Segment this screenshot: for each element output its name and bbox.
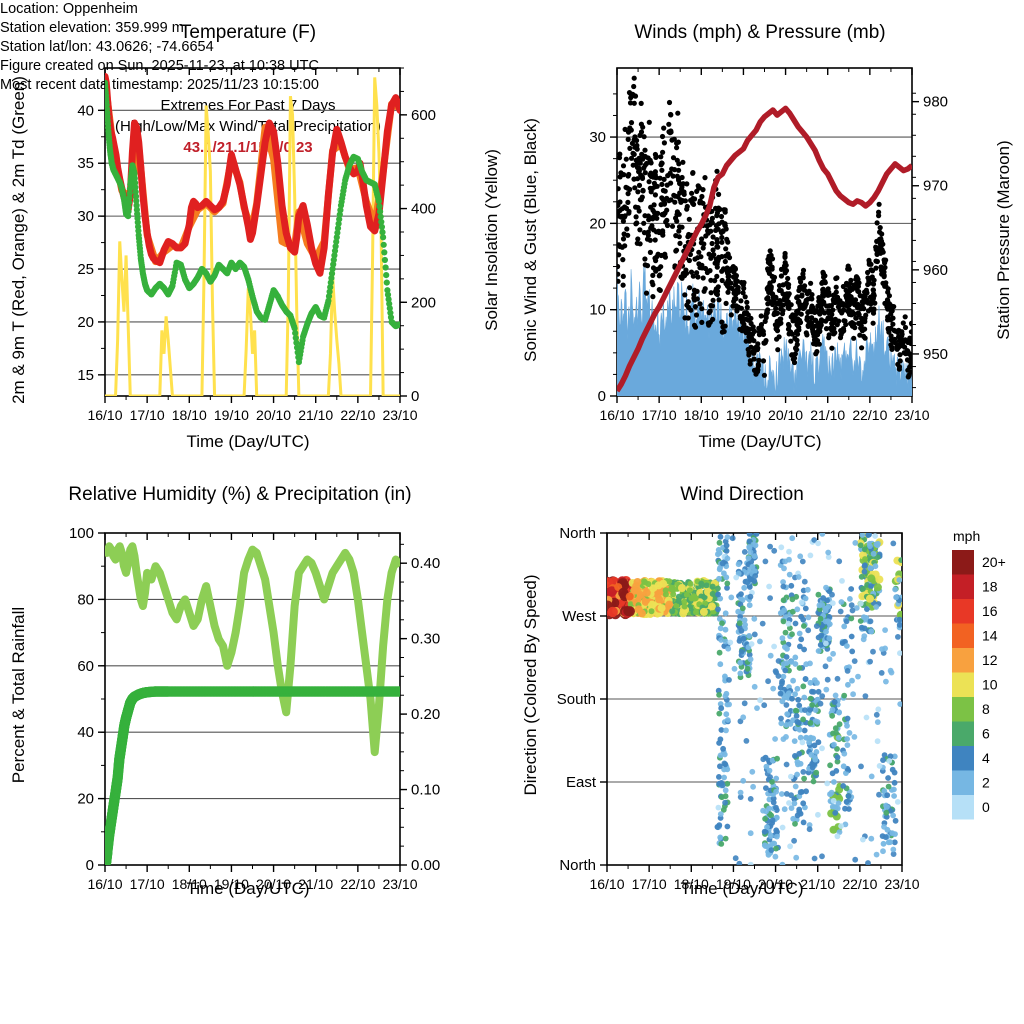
wind-direction-ylabel: Direction (Colored By Speed): [521, 574, 540, 795]
y-tick-label: North: [559, 857, 596, 874]
legend-label: 6: [982, 726, 990, 742]
legend-swatch: [952, 575, 974, 600]
x-tick-label: 19/10: [726, 407, 761, 423]
y2-tick-label: 0.40: [411, 555, 440, 572]
y-tick-label: 40: [77, 724, 94, 741]
legend-label: 20+: [982, 554, 1006, 570]
legend-label: 10: [982, 677, 998, 693]
y-tick-label: 25: [77, 261, 94, 278]
y-tick-label: North: [559, 525, 596, 542]
legend-swatch: [952, 795, 974, 820]
y-tick-label: 60: [77, 658, 94, 675]
legend-label: 8: [982, 701, 990, 717]
y2-tick-label: 0: [411, 388, 419, 405]
winds-chart: Winds (mph) & Pressure (mb) 010203095096…: [512, 0, 1024, 470]
y2-tick-label: 970: [923, 178, 948, 195]
legend-swatch: [952, 648, 974, 673]
x-tick-label: 19/10: [214, 407, 249, 423]
humidity-title: Relative Humidity (%) & Precipitation (i…: [68, 484, 411, 505]
x-tick-label: 21/10: [298, 407, 333, 423]
legend-swatch: [952, 624, 974, 649]
y-tick-label: 10: [589, 302, 606, 319]
humidity-chart: Relative Humidity (%) & Precipitation (i…: [0, 470, 512, 920]
y-tick-label: 0: [86, 857, 94, 874]
temperature-title: Temperature (F): [180, 22, 316, 43]
relative-humidity-line: [105, 546, 400, 752]
panel-wind-direction: Wind Direction NorthWestSouthEastNorth16…: [512, 470, 1024, 920]
x-tick-label: 20/10: [768, 407, 803, 423]
y2-tick-label: 400: [411, 201, 436, 218]
y2-tick-label: 0.10: [411, 782, 440, 799]
legend-label: 0: [982, 799, 990, 815]
y-tick-label: 15: [77, 367, 94, 384]
x-tick-label: 21/10: [800, 876, 835, 892]
humidity-xlabel: Time (Day/UTC): [186, 879, 309, 898]
y-tick-label: 80: [77, 591, 94, 608]
humidity-ylabel-left: Percent & Total Rainfall: [9, 607, 28, 783]
x-tick-label: 18/10: [172, 407, 207, 423]
panel-temperature: Temperature (F) 152025303540020040060016…: [0, 0, 512, 470]
legend-swatch: [952, 550, 974, 575]
x-tick-label: 23/10: [884, 876, 919, 892]
x-tick-label: 21/10: [810, 407, 845, 423]
y2-tick-label: 950: [923, 346, 948, 363]
y-tick-label: 20: [589, 215, 606, 232]
winds-xlabel: Time (Day/UTC): [698, 432, 821, 451]
legend-swatch: [952, 746, 974, 771]
y2-tick-label: 0.00: [411, 857, 440, 874]
y-tick-label: 20: [77, 314, 94, 331]
y-tick-label: West: [562, 608, 597, 625]
x-tick-label: 16/10: [599, 407, 634, 423]
y2-tick-label: 960: [923, 262, 948, 279]
temperature-ylabel-left: 2m & 9m T (Red, Orange) & 2m Td (Green): [9, 76, 28, 404]
temperature-xlabel: Time (Day/UTC): [186, 432, 309, 451]
x-tick-label: 17/10: [632, 876, 667, 892]
x-tick-label: 22/10: [852, 407, 887, 423]
x-tick-label: 22/10: [842, 876, 877, 892]
wind-direction-xlabel: Time (Day/UTC): [680, 879, 803, 898]
x-tick-label: 16/10: [87, 407, 122, 423]
x-tick-label: 20/10: [256, 407, 291, 423]
y-tick-label: 35: [77, 155, 94, 172]
panel-winds-pressure: Winds (mph) & Pressure (mb) 010203095096…: [512, 0, 1024, 470]
x-tick-label: 23/10: [382, 407, 417, 423]
temp-2m-line: [105, 76, 400, 273]
y2-tick-label: 980: [923, 94, 948, 111]
x-tick-label: 23/10: [382, 876, 417, 892]
x-tick-label: 17/10: [130, 876, 165, 892]
legend-swatch: [952, 673, 974, 698]
x-tick-label: 22/10: [340, 407, 375, 423]
panel-humidity-precip: Relative Humidity (%) & Precipitation (i…: [0, 470, 512, 920]
legend-swatch: [952, 771, 974, 796]
winds-ylabel-right: Station Pressure (Maroon): [994, 140, 1013, 339]
legend-title: mph: [953, 528, 980, 544]
y2-tick-label: 0.30: [411, 631, 440, 648]
x-tick-label: 18/10: [684, 407, 719, 423]
y2-tick-label: 600: [411, 107, 436, 124]
winds-title: Winds (mph) & Pressure (mb): [634, 22, 885, 43]
legend-label: 2: [982, 775, 990, 791]
y-tick-label: 20: [77, 791, 94, 808]
y-tick-label: 40: [77, 102, 94, 119]
wind-direction-title: Wind Direction: [680, 484, 804, 505]
x-tick-label: 16/10: [87, 876, 122, 892]
temperature-ylabel-right: Solar Insolation (Yellow): [482, 149, 501, 331]
x-tick-label: 22/10: [340, 876, 375, 892]
legend-swatch: [952, 722, 974, 747]
legend-label: 16: [982, 603, 998, 619]
y-tick-label: East: [566, 774, 597, 791]
total-rainfall-series: [100, 686, 405, 870]
legend-label: 14: [982, 628, 998, 644]
winds-ylabel-left: Sonic Wind & Gust (Blue, Black): [521, 118, 540, 362]
dashboard-grid: Temperature (F) 152025303540020040060016…: [0, 0, 1024, 1024]
gust-scatter: [615, 76, 915, 380]
y-tick-label: 30: [589, 129, 606, 146]
y2-tick-label: 0.20: [411, 706, 440, 723]
legend-label: 18: [982, 579, 998, 595]
legend-swatch: [952, 599, 974, 624]
x-tick-label: 23/10: [894, 407, 929, 423]
legend-label: 4: [982, 750, 990, 766]
x-tick-label: 17/10: [642, 407, 677, 423]
y-tick-label: 100: [69, 525, 94, 542]
x-tick-label: 17/10: [130, 407, 165, 423]
legend-swatch: [952, 697, 974, 722]
wind-direction-chart: Wind Direction NorthWestSouthEastNorth16…: [512, 470, 1024, 920]
y-tick-label: 30: [77, 208, 94, 225]
y-tick-label: South: [557, 691, 596, 708]
x-tick-label: 16/10: [589, 876, 624, 892]
y2-tick-label: 200: [411, 294, 436, 311]
y-tick-label: 0: [598, 388, 606, 405]
temperature-chart: Temperature (F) 152025303540020040060016…: [0, 0, 512, 470]
legend-label: 12: [982, 652, 998, 668]
